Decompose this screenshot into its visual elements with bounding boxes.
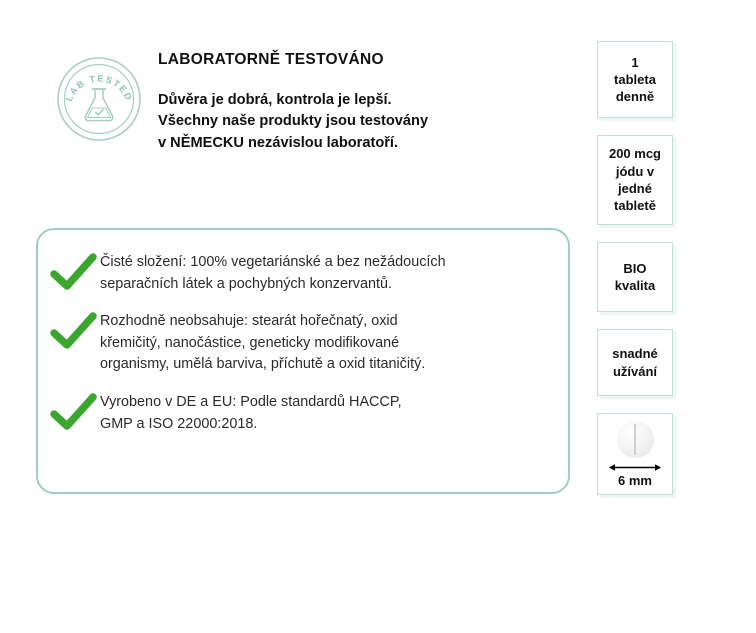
green-check-icon	[48, 311, 100, 351]
claim-1-line-1: Čisté složení: 100% vegetariánské a bez …	[100, 252, 446, 274]
dimension-arrow-icon	[608, 462, 662, 473]
green-check-icon	[48, 392, 100, 432]
badge-daily-dose-line-3: denně	[614, 88, 656, 105]
badge-iodine-line-2: jódu v	[609, 163, 661, 180]
green-check-icon	[48, 252, 100, 292]
badge-daily-dose-line-1: 1	[614, 54, 656, 71]
feature-badges-sidebar: 1 tableta denně 200 mcg jódu v jedné tab…	[597, 41, 683, 512]
badge-easy-use-line-1: snadné	[612, 345, 658, 362]
claim-3-line-1: Vyrobeno v DE a EU: Podle standardů HACC…	[100, 392, 402, 414]
badge-bio-quality-text: BIO kvalita	[612, 253, 658, 302]
badge-easy-use-text: snadné užívání	[609, 338, 661, 387]
page-title: LABORATORNĚ TESTOVÁNO	[158, 51, 428, 68]
tablet-pill-icon	[617, 421, 654, 458]
headline-line-1: Důvěra je dobrá, kontrola je lepší.	[158, 90, 428, 111]
list-item: Vyrobeno v DE a EU: Podle standardů HACC…	[48, 390, 558, 435]
claims-card: Čisté složení: 100% vegetariánské a bez …	[36, 228, 570, 494]
tablet-size-content: 6 mm	[608, 414, 662, 494]
badge-tablet-size: 6 mm	[597, 413, 673, 495]
badge-iodine-line-1: 200 mcg	[609, 145, 661, 162]
claim-text: Čisté složení: 100% vegetariánské a bez …	[100, 250, 446, 295]
claim-1-line-2: separačních látek a pochybných konzervan…	[100, 274, 446, 296]
claim-2-line-1: Rozhodně neobsahuje: stearát hořečnatý, …	[100, 311, 425, 333]
badge-iodine-amount-text: 200 mcg jódu v jedné tabletě	[606, 138, 664, 221]
badge-iodine-line-4: tabletě	[609, 197, 661, 214]
badge-daily-dose: 1 tableta denně	[597, 41, 673, 118]
list-item: Rozhodně neobsahuje: stearát hořečnatý, …	[48, 309, 558, 376]
badge-bio-line-1: BIO	[615, 260, 655, 277]
lab-tested-section: LAB TESTED LABORATORNĚ TESTOVÁNO Důvěra …	[0, 38, 580, 178]
claim-3-line-2: GMP a ISO 22000:2018.	[100, 414, 402, 436]
claim-text: Vyrobeno v DE a EU: Podle standardů HACC…	[100, 390, 402, 435]
badge-bio-line-2: kvalita	[615, 277, 655, 294]
headline-block: LABORATORNĚ TESTOVÁNO Důvěra je dobrá, k…	[158, 38, 428, 154]
lab-flask-badge-icon: LAB TESTED	[56, 56, 142, 142]
badge-daily-dose-text: 1 tableta denně	[611, 47, 659, 113]
badge-easy-use: snadné užívání	[597, 329, 673, 396]
list-item: Čisté složení: 100% vegetariánské a bez …	[48, 250, 558, 295]
headline-line-3: v NĚMECKU nezávislou laboratoří.	[158, 133, 428, 154]
claim-2-line-3: organismy, umělá barviva, příchutě a oxi…	[100, 354, 425, 376]
headline-subtext: Důvěra je dobrá, kontrola je lepší. Všec…	[158, 90, 428, 154]
claim-text: Rozhodně neobsahuje: stearát hořečnatý, …	[100, 309, 425, 376]
badge-iodine-line-3: jedné	[609, 180, 661, 197]
claims-list: Čisté složení: 100% vegetariánské a bez …	[48, 250, 558, 435]
badge-daily-dose-line-2: tableta	[614, 71, 656, 88]
badge-bio-quality: BIO kvalita	[597, 242, 673, 312]
badge-iodine-amount: 200 mcg jódu v jedné tabletě	[597, 135, 673, 225]
badge-easy-use-line-2: užívání	[612, 363, 658, 380]
headline-line-2: Všechny naše produkty jsou testovány	[158, 111, 428, 132]
claim-2-line-2: křemičitý, nanočástice, geneticky modifi…	[100, 333, 425, 355]
tablet-size-label: 6 mm	[618, 474, 652, 488]
